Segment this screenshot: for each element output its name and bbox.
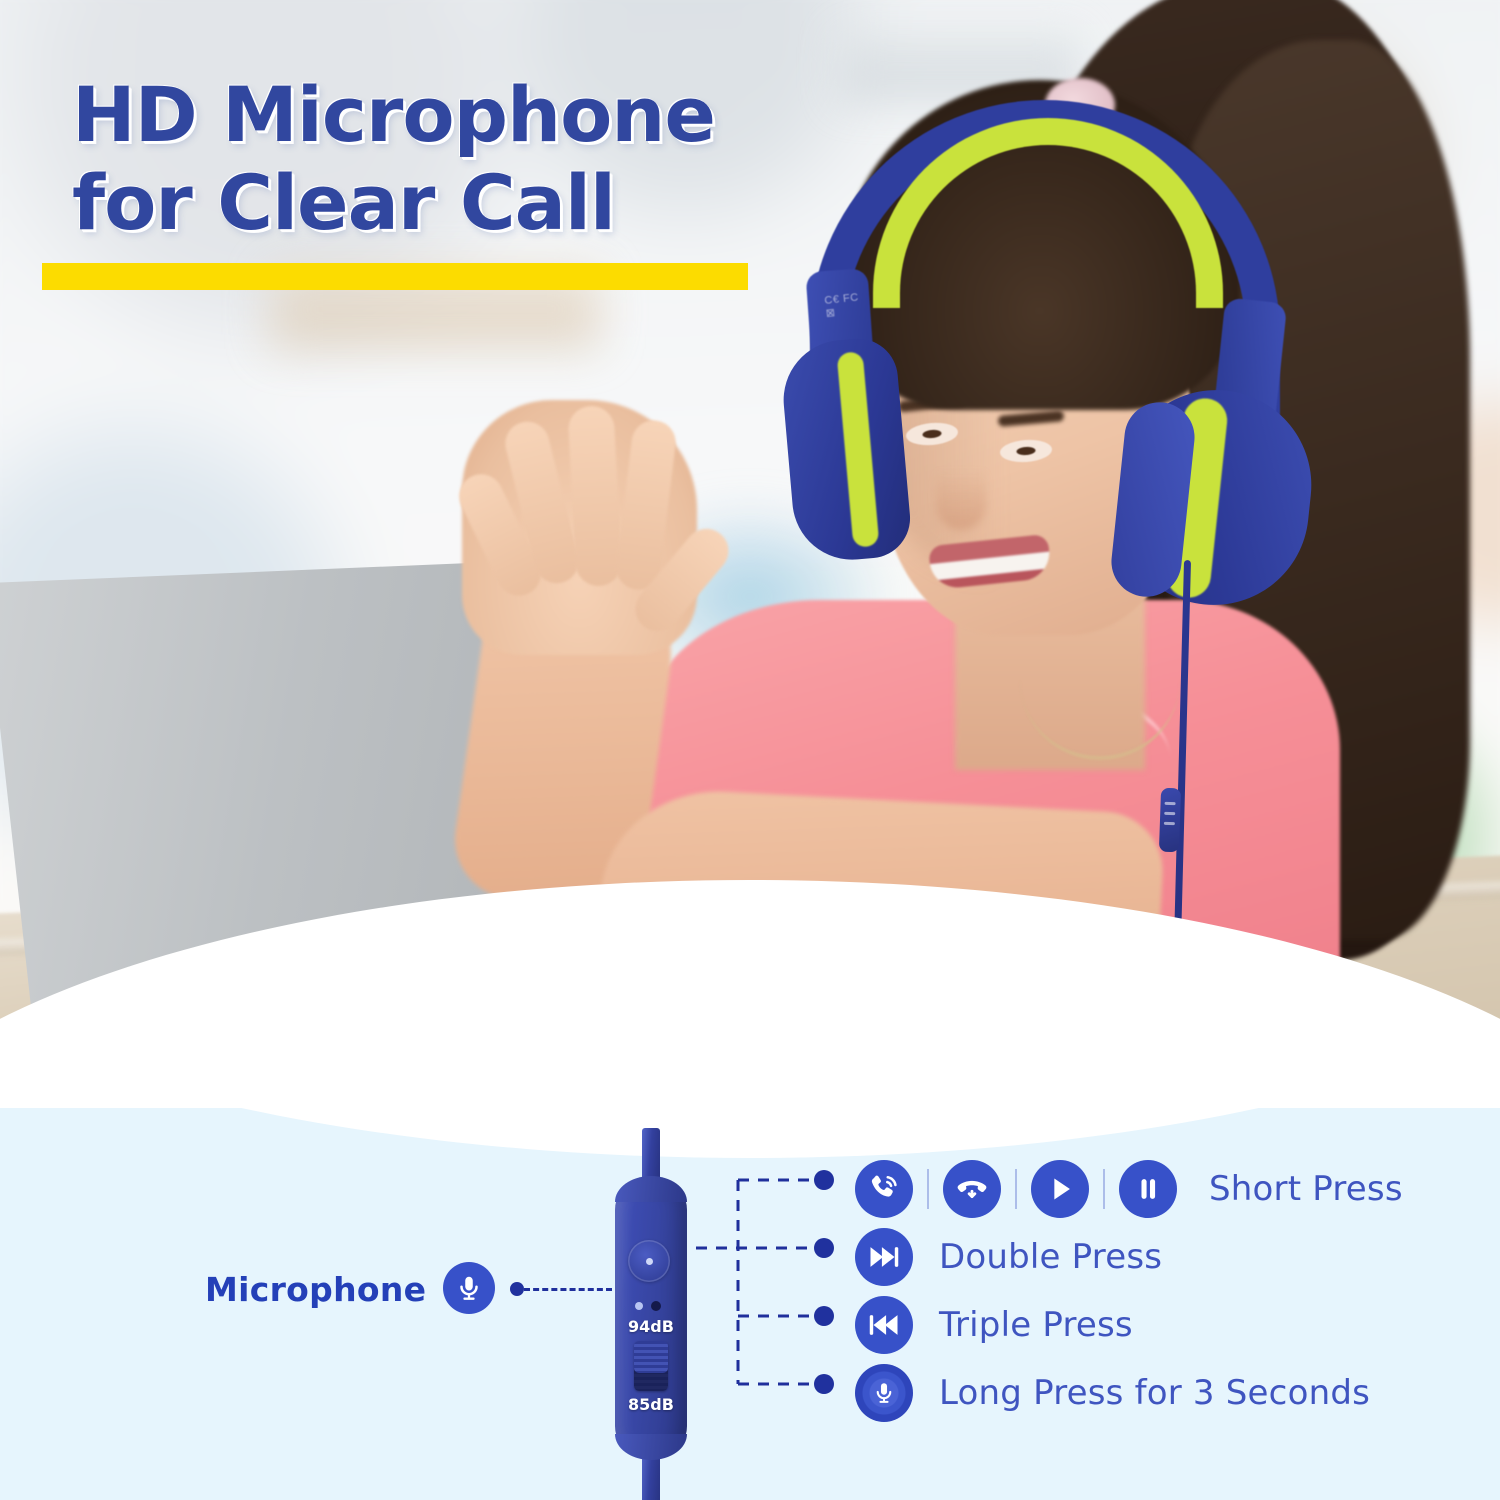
headphone-inline-remote-photo	[1159, 788, 1181, 853]
end-call-icon	[943, 1160, 1001, 1218]
control-row-label: Triple Press	[939, 1305, 1133, 1345]
control-row-label: Double Press	[939, 1237, 1162, 1277]
control-row-triple-press: Triple Press	[855, 1296, 1133, 1354]
multifunction-button-indicator	[646, 1258, 653, 1265]
headline-line-2: for Clear Call	[72, 162, 715, 244]
headphone-certification-marks: C€ FC⊠	[824, 289, 884, 339]
microphone-connector-dot	[510, 1282, 524, 1296]
play-icon	[1031, 1160, 1089, 1218]
page-title: HD Microphone for Clear Call	[72, 74, 715, 244]
microphone-icon	[443, 1262, 495, 1314]
next-track-icon	[855, 1228, 913, 1286]
remote-microphone-hole	[635, 1302, 643, 1310]
icon-divider	[927, 1169, 929, 1209]
control-row-double-press: Double Press	[855, 1228, 1162, 1286]
previous-track-icon	[855, 1296, 913, 1354]
control-row-label: Short Press	[1209, 1169, 1403, 1209]
control-row-short-press: Short Press	[855, 1160, 1403, 1218]
answer-call-icon	[855, 1160, 913, 1218]
volume-limit-high-label: 94dB	[612, 1317, 690, 1336]
headline-line-1: HD Microphone	[72, 74, 715, 156]
volume-limit-switch[interactable]	[634, 1341, 668, 1391]
pause-icon	[1119, 1160, 1177, 1218]
icon-divider	[1103, 1169, 1105, 1209]
product-feature-image: C€ FC⊠ HD Microphone for Clear Call	[0, 0, 1500, 1500]
inline-remote-illustration: 94dB 85dB	[612, 1132, 690, 1494]
remote-led-indicator	[651, 1301, 661, 1311]
control-row-label: Long Press for 3 Seconds	[939, 1373, 1370, 1413]
icon-divider	[1015, 1169, 1017, 1209]
headline-highlight-bar	[42, 263, 748, 290]
microphone-label: Microphone	[205, 1270, 426, 1309]
microphone-connector-line	[524, 1288, 612, 1291]
finger-middle	[567, 405, 622, 587]
volume-limit-low-label: 85dB	[612, 1395, 690, 1414]
control-row-long-press: Long Press for 3 Seconds	[855, 1364, 1370, 1422]
voice-assistant-icon	[855, 1364, 913, 1422]
